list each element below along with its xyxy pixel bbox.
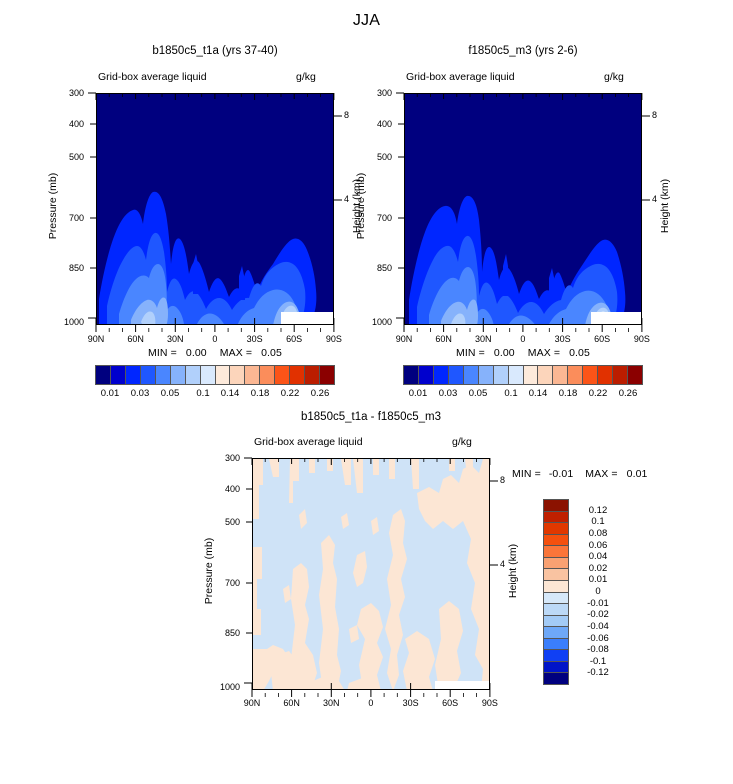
panel-b-max-label: MAX = bbox=[528, 347, 560, 359]
panel-a-xtick-90S: 90S bbox=[314, 334, 354, 344]
colorbar-swatch bbox=[583, 366, 598, 384]
panel-b-variable-label: Grid-box average liquid bbox=[406, 71, 515, 83]
colorbar-swatch bbox=[524, 366, 539, 384]
colorbar-swatch bbox=[538, 366, 553, 384]
panel-a-ytick-850: 850 bbox=[40, 263, 84, 273]
panel-a-ytick-500: 500 bbox=[40, 152, 84, 162]
panel-c-ytick-700: 700 bbox=[196, 578, 240, 588]
panel-a-title: b1850c5_t1a (yrs 37-40) bbox=[96, 45, 334, 57]
colorbar-swatch bbox=[404, 366, 419, 384]
colorbar-swatch bbox=[156, 366, 171, 384]
cb-label: 0.1 bbox=[576, 516, 620, 527]
panel-b-max-value: 0.05 bbox=[569, 347, 590, 359]
cb-label: 0.08 bbox=[576, 528, 620, 539]
panel-b-xtick-0: 0 bbox=[503, 334, 543, 344]
panel-a-colorbar bbox=[95, 365, 335, 385]
panel-b-axis-ticks bbox=[396, 86, 658, 336]
cb-label: 0.26 bbox=[300, 388, 340, 399]
colorbar-swatch bbox=[544, 650, 568, 662]
colorbar-swatch bbox=[245, 366, 260, 384]
colorbar-swatch bbox=[230, 366, 245, 384]
figure-suptitle: JJA bbox=[0, 12, 733, 30]
panel-a-xtick-30S: 30S bbox=[235, 334, 275, 344]
panel-b-xtick-60N: 60N bbox=[424, 334, 464, 344]
colorbar-swatch bbox=[216, 366, 231, 384]
colorbar-swatch bbox=[449, 366, 464, 384]
panel-b-y2axis-title: Height (km) bbox=[659, 146, 671, 266]
panel-b-xtick-90N: 90N bbox=[384, 334, 424, 344]
panel-a-xtick-60N: 60N bbox=[116, 334, 156, 344]
colorbar-swatch bbox=[544, 639, 568, 651]
colorbar-swatch bbox=[141, 366, 156, 384]
colorbar-swatch bbox=[544, 546, 568, 558]
panel-c-yaxis-title: Pressure (mb) bbox=[203, 511, 215, 631]
panel-b-xtick-30N: 30N bbox=[463, 334, 503, 344]
colorbar-swatch bbox=[544, 593, 568, 605]
panel-b-minmax: MIN = 0.00 MAX = 0.05 bbox=[404, 347, 642, 359]
colorbar-swatch bbox=[494, 366, 509, 384]
panel-b-yaxis-title: Pressure (mb) bbox=[355, 146, 367, 266]
panel-a-xtick-0: 0 bbox=[195, 334, 235, 344]
colorbar-swatch bbox=[628, 366, 642, 384]
colorbar-swatch bbox=[96, 366, 111, 384]
panel-a-variable-label: Grid-box average liquid bbox=[98, 71, 207, 83]
cb-label: -0.12 bbox=[576, 667, 620, 678]
panel-a-ytick-700: 700 bbox=[40, 213, 84, 223]
panel-b-min-label: MIN = bbox=[456, 347, 485, 359]
panel-a-max-value: 0.05 bbox=[261, 347, 282, 359]
panel-c-ytick-400: 400 bbox=[196, 484, 240, 494]
panel-b-ytick-300: 300 bbox=[348, 88, 392, 98]
colorbar-swatch bbox=[305, 366, 320, 384]
cb-label: 0.02 bbox=[576, 563, 620, 574]
cb-label: -0.04 bbox=[576, 621, 620, 632]
panel-c-axis-ticks bbox=[244, 451, 506, 701]
cb-label: -0.01 bbox=[576, 598, 620, 609]
panel-a-axis-ticks bbox=[88, 86, 350, 336]
colorbar-swatch bbox=[201, 366, 216, 384]
colorbar-swatch bbox=[544, 512, 568, 524]
panel-b-xtick-30S: 30S bbox=[543, 334, 583, 344]
panel-a-xtick-30N: 30N bbox=[155, 334, 195, 344]
colorbar-swatch bbox=[464, 366, 479, 384]
panel-c-max-label: MAX = bbox=[585, 468, 617, 480]
colorbar-swatch bbox=[126, 366, 141, 384]
panel-c-ytick-500: 500 bbox=[196, 517, 240, 527]
colorbar-swatch bbox=[544, 581, 568, 593]
panel-a-xtick-60S: 60S bbox=[274, 334, 314, 344]
cb-label: 0.01 bbox=[576, 574, 620, 585]
colorbar-swatch bbox=[171, 366, 186, 384]
colorbar-swatch bbox=[544, 616, 568, 628]
panel-b-ytick-1000: 1000 bbox=[348, 317, 392, 327]
cb-label: 0.04 bbox=[576, 551, 620, 562]
panel-c-ytick-1000: 1000 bbox=[196, 682, 240, 692]
colorbar-swatch bbox=[509, 366, 524, 384]
panel-c-xtick-30S: 30S bbox=[391, 698, 431, 708]
panel-c-units-label: g/kg bbox=[452, 436, 472, 448]
panel-a-min-value: 0.00 bbox=[186, 347, 207, 359]
panel-c-title: b1850c5_t1a - f1850c5_m3 bbox=[252, 411, 490, 423]
panel-a-ytick-400: 400 bbox=[40, 119, 84, 129]
panel-a-min-label: MIN = bbox=[148, 347, 177, 359]
panel-c-ytick-300: 300 bbox=[196, 453, 240, 463]
colorbar-swatch bbox=[186, 366, 201, 384]
panel-b-ytick-500: 500 bbox=[348, 152, 392, 162]
cb-label: -0.1 bbox=[576, 656, 620, 667]
panel-c-y2axis-title: Height (km) bbox=[507, 511, 519, 631]
panel-c-xtick-90S: 90S bbox=[470, 698, 510, 708]
panel-b-xtick-90S: 90S bbox=[622, 334, 662, 344]
colorbar-swatch bbox=[544, 627, 568, 639]
colorbar-swatch bbox=[320, 366, 334, 384]
panel-b-title: f1850c5_m3 (yrs 2-6) bbox=[404, 45, 642, 57]
panel-c-colorbar-labels: 0.12 0.1 0.08 0.06 0.04 0.02 0.01 0 -0.0… bbox=[574, 499, 620, 685]
colorbar-swatch bbox=[434, 366, 449, 384]
panel-c-xtick-0: 0 bbox=[351, 698, 391, 708]
colorbar-swatch bbox=[544, 523, 568, 535]
colorbar-swatch bbox=[544, 500, 568, 512]
panel-a-max-label: MAX = bbox=[220, 347, 252, 359]
panel-b-ytick-400: 400 bbox=[348, 119, 392, 129]
panel-c-min-value: -0.01 bbox=[549, 468, 573, 480]
colorbar-swatch bbox=[260, 366, 275, 384]
panel-b-colorbar bbox=[403, 365, 643, 385]
colorbar-swatch bbox=[275, 366, 290, 384]
colorbar-swatch bbox=[479, 366, 494, 384]
panel-c-max-value: 0.01 bbox=[627, 468, 648, 480]
panel-c-minmax: MIN = -0.01 MAX = 0.01 bbox=[512, 468, 647, 480]
panel-b-ytick-700: 700 bbox=[348, 213, 392, 223]
panel-a-units-label: g/kg bbox=[296, 71, 316, 83]
colorbar-swatch bbox=[598, 366, 613, 384]
panel-c-variable-label: Grid-box average liquid bbox=[254, 436, 363, 448]
panel-a-yaxis-title: Pressure (mb) bbox=[47, 146, 59, 266]
colorbar-swatch bbox=[419, 366, 434, 384]
cb-label: 0 bbox=[576, 586, 620, 597]
panel-a-xtick-90N: 90N bbox=[76, 334, 116, 344]
panel-a-ytick-300: 300 bbox=[40, 88, 84, 98]
colorbar-swatch bbox=[613, 366, 628, 384]
colorbar-swatch bbox=[553, 366, 568, 384]
panel-b-ytick-850: 850 bbox=[348, 263, 392, 273]
colorbar-swatch bbox=[544, 604, 568, 616]
colorbar-swatch bbox=[568, 366, 583, 384]
panel-a-ytick-1000: 1000 bbox=[40, 317, 84, 327]
colorbar-swatch bbox=[544, 662, 568, 674]
panel-c-xtick-90N: 90N bbox=[232, 698, 272, 708]
colorbar-swatch bbox=[544, 558, 568, 570]
colorbar-swatch bbox=[544, 535, 568, 547]
cb-label: 0.26 bbox=[608, 388, 648, 399]
panel-c-xtick-30N: 30N bbox=[311, 698, 351, 708]
panel-a-colorbar-labels: 0.01 0.03 0.05 0.1 0.14 0.18 0.22 0.26 bbox=[95, 388, 335, 402]
panel-b-min-value: 0.00 bbox=[494, 347, 515, 359]
panel-b-units-label: g/kg bbox=[604, 71, 624, 83]
panel-c-ytick-850: 850 bbox=[196, 628, 240, 638]
panel-c-min-label: MIN = bbox=[512, 468, 541, 480]
panel-c-xtick-60N: 60N bbox=[272, 698, 312, 708]
panel-c-xtick-60S: 60S bbox=[430, 698, 470, 708]
cb-label: 0.12 bbox=[576, 505, 620, 516]
colorbar-swatch bbox=[544, 673, 568, 684]
colorbar-swatch bbox=[290, 366, 305, 384]
cb-label: -0.02 bbox=[576, 609, 620, 620]
cb-label: -0.08 bbox=[576, 644, 620, 655]
panel-a-minmax: MIN = 0.00 MAX = 0.05 bbox=[96, 347, 334, 359]
panel-c-colorbar bbox=[543, 499, 569, 685]
cb-label: -0.06 bbox=[576, 633, 620, 644]
colorbar-swatch bbox=[111, 366, 126, 384]
panel-b-xtick-60S: 60S bbox=[582, 334, 622, 344]
cb-label: 0.06 bbox=[576, 540, 620, 551]
colorbar-swatch bbox=[544, 569, 568, 581]
panel-b-colorbar-labels: 0.01 0.03 0.05 0.1 0.14 0.18 0.22 0.26 bbox=[403, 388, 643, 402]
